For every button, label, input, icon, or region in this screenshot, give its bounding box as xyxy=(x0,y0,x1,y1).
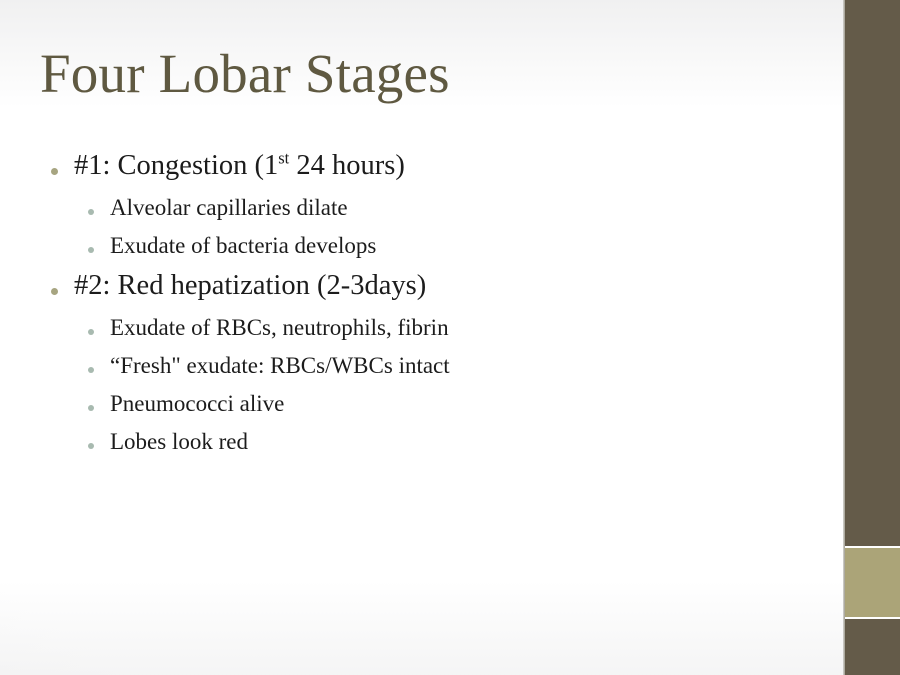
bullet-level1: #2: Red hepatization (2-3days) xyxy=(42,272,742,312)
bullet-dot-icon xyxy=(88,247,94,253)
bullet-level2: Exudate of bacteria develops xyxy=(42,234,742,272)
slide-body-list: #1: Congestion (1st 24 hours) Alveolar c… xyxy=(42,152,742,468)
slide-title: Four Lobar Stages xyxy=(40,44,450,105)
bullet-level1: #1: Congestion (1st 24 hours) xyxy=(42,152,742,192)
bullet-text: Exudate of RBCs, neutrophils, fibrin xyxy=(110,315,449,340)
bullet-text: Alveolar capillaries dilate xyxy=(110,195,348,220)
bullet-text: “Fresh" exudate: RBCs/WBCs intact xyxy=(110,353,450,378)
sidebar-band-top xyxy=(845,0,900,546)
presentation-slide: Four Lobar Stages #1: Congestion (1st 24… xyxy=(0,0,900,675)
bullet-dot-icon xyxy=(88,367,94,373)
bullet-dot-icon xyxy=(88,405,94,411)
bullet-text: Exudate of bacteria develops xyxy=(110,233,376,258)
bullet-text: #2: Red hepatization (2-3days) xyxy=(74,270,426,301)
decorative-sidebar xyxy=(845,0,900,675)
bullet-text: Pneumococci alive xyxy=(110,391,284,416)
bullet-level2: “Fresh" exudate: RBCs/WBCs intact xyxy=(42,354,742,392)
bullet-level2: Lobes look red xyxy=(42,430,742,468)
bullet-level2: Pneumococci alive xyxy=(42,392,742,430)
bullet-dot-icon xyxy=(51,288,58,295)
bullet-level2: Exudate of RBCs, neutrophils, fibrin xyxy=(42,316,742,354)
bullet-text-part-1: #1: Congestion (1 xyxy=(74,150,278,181)
bullet-text: Lobes look red xyxy=(110,429,248,454)
bullet-text-part-2: 24 hours) xyxy=(289,150,405,181)
sidebar-band-bottom xyxy=(845,619,900,675)
bullet-level2: Alveolar capillaries dilate xyxy=(42,196,742,234)
sidebar-band-middle xyxy=(845,548,900,617)
bullet-superscript: st xyxy=(278,149,289,168)
bullet-dot-icon xyxy=(88,443,94,449)
bullet-dot-icon xyxy=(51,168,58,175)
bullet-dot-icon xyxy=(88,209,94,215)
bullet-dot-icon xyxy=(88,329,94,335)
